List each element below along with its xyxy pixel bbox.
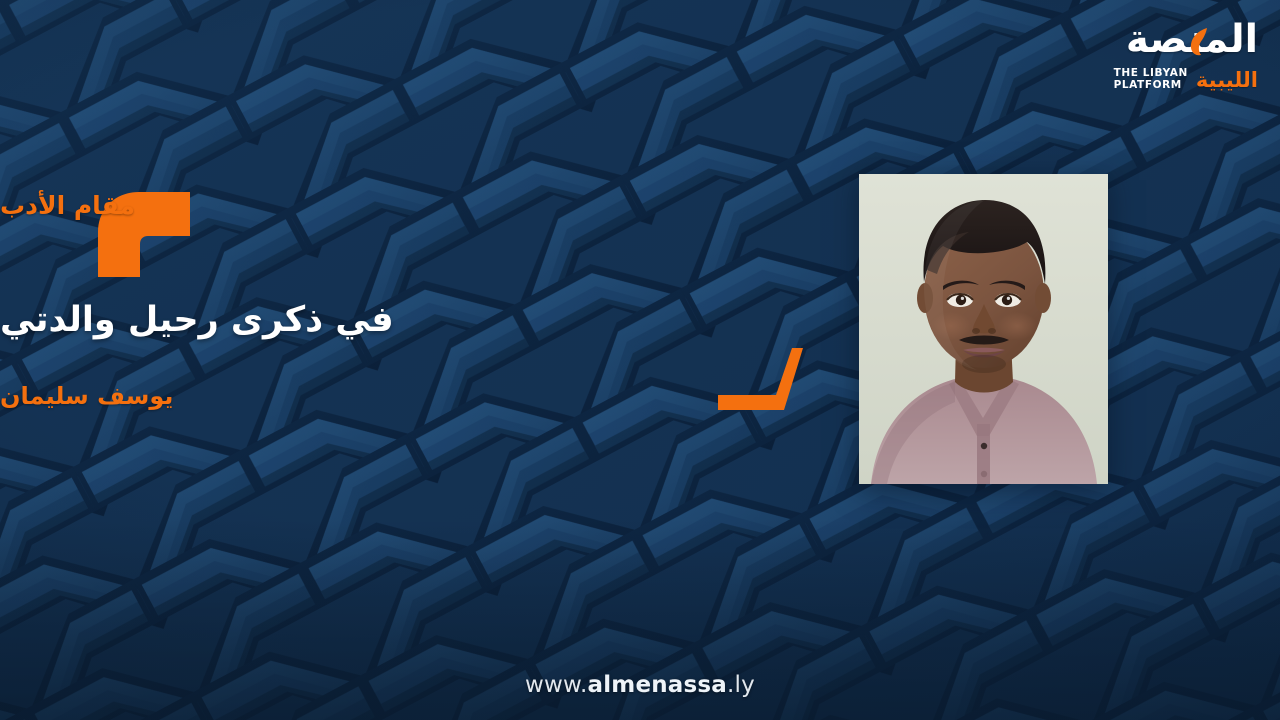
quote-close-icon: [718, 348, 803, 410]
logo-sub-english-line1: THE LIBYAN: [1114, 67, 1188, 79]
kicker-label: مقام الأدب: [0, 191, 805, 221]
logo-wordmark: المنصة: [1092, 24, 1258, 64]
logo-arabic-text: المنصة: [1126, 20, 1258, 59]
author-portrait: [859, 174, 1108, 484]
brand-logo[interactable]: المنصة الليبية THE LIBYAN PLATFORM: [1092, 24, 1258, 94]
site-url-tld: .ly: [727, 672, 755, 698]
social-card: المنصة الليبية THE LIBYAN PLATFORM مقام …: [0, 0, 1280, 720]
site-url-prefix: www.: [525, 672, 587, 698]
page-title: في ذكرى رحيل والدتي: [0, 299, 618, 343]
author-byline: يوسف سليمان: [0, 382, 300, 411]
logo-subtitle: الليبية THE LIBYAN PLATFORM: [1092, 66, 1258, 94]
logo-sub-english-line2: PLATFORM: [1114, 79, 1182, 91]
logo-sub-english: THE LIBYAN PLATFORM: [1114, 68, 1188, 92]
site-url[interactable]: www.almenassa.ly: [0, 672, 1280, 698]
site-url-name: almenassa: [587, 672, 727, 698]
logo-sub-arabic: الليبية: [1196, 70, 1258, 91]
